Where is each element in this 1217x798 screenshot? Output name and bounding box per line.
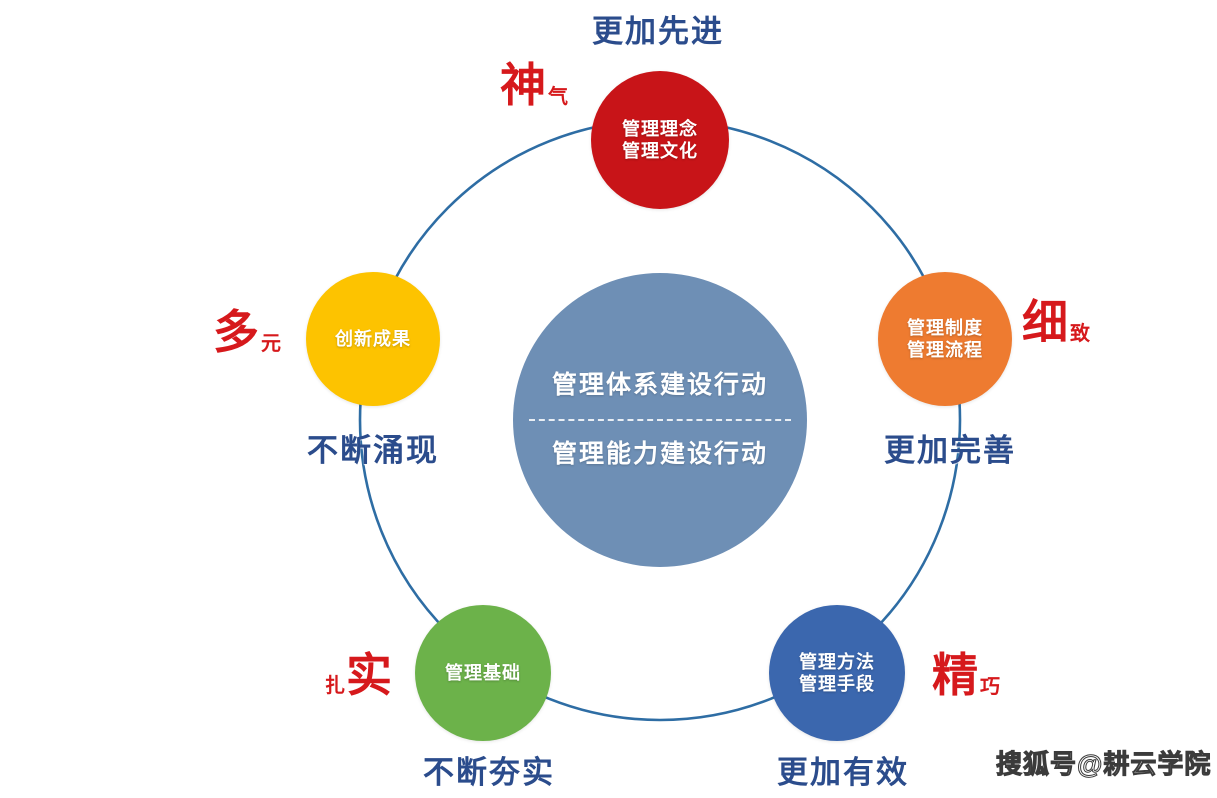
attribute-method-big: 精 [932, 652, 978, 698]
node-foundation-label-1: 管理基础 [445, 662, 521, 685]
node-foundation[interactable]: 管理基础 [415, 605, 551, 741]
diagram-canvas: 管理体系建设行动 管理能力建设行动 管理理念 管理文化 创新成果 管理制度 管理… [0, 0, 1217, 798]
node-method[interactable]: 管理方法 管理手段 [769, 605, 905, 741]
attribute-foundation-big: 实 [346, 652, 392, 698]
attribute-concept-small: 气 [548, 87, 568, 107]
node-concept-label-1: 管理理念 [622, 118, 698, 141]
attribute-system: 细 致 [1022, 299, 1090, 345]
attribute-innovation: 多 元 [213, 309, 281, 355]
hub-dashed-divider [529, 419, 791, 421]
caption-innovation: 不断涌现 [307, 425, 439, 470]
caption-foundation: 不断夯实 [423, 747, 555, 792]
caption-method: 更加有效 [777, 747, 909, 792]
attribute-concept: 神 气 [500, 62, 568, 108]
watermark: 搜狐号@耕云学院 [996, 744, 1211, 781]
caption-concept: 更加先进 [592, 6, 724, 51]
hub-line-2: 管理能力建设行动 [552, 442, 768, 467]
node-method-label-2: 管理手段 [799, 673, 875, 696]
node-concept-label-2: 管理文化 [622, 140, 698, 163]
node-concept[interactable]: 管理理念 管理文化 [591, 71, 729, 209]
attribute-method: 精 巧 [932, 652, 1000, 698]
attribute-foundation: 扎 实 [325, 652, 392, 698]
node-innovation[interactable]: 创新成果 [306, 272, 440, 406]
hub-line-1: 管理体系建设行动 [552, 373, 768, 398]
center-hub[interactable]: 管理体系建设行动 管理能力建设行动 [513, 273, 807, 567]
node-innovation-label-1: 创新成果 [335, 328, 411, 351]
attribute-concept-big: 神 [500, 62, 546, 108]
node-system[interactable]: 管理制度 管理流程 [878, 272, 1012, 406]
caption-system: 更加完善 [884, 425, 1016, 470]
attribute-innovation-big: 多 [213, 309, 259, 355]
attribute-system-small: 致 [1070, 324, 1090, 344]
node-system-label-2: 管理流程 [907, 339, 983, 362]
node-system-label-1: 管理制度 [907, 317, 983, 340]
attribute-foundation-small: 扎 [325, 676, 345, 696]
node-method-label-1: 管理方法 [799, 651, 875, 674]
attribute-method-small: 巧 [980, 677, 1000, 697]
attribute-system-big: 细 [1022, 299, 1068, 345]
attribute-innovation-small: 元 [261, 334, 281, 354]
